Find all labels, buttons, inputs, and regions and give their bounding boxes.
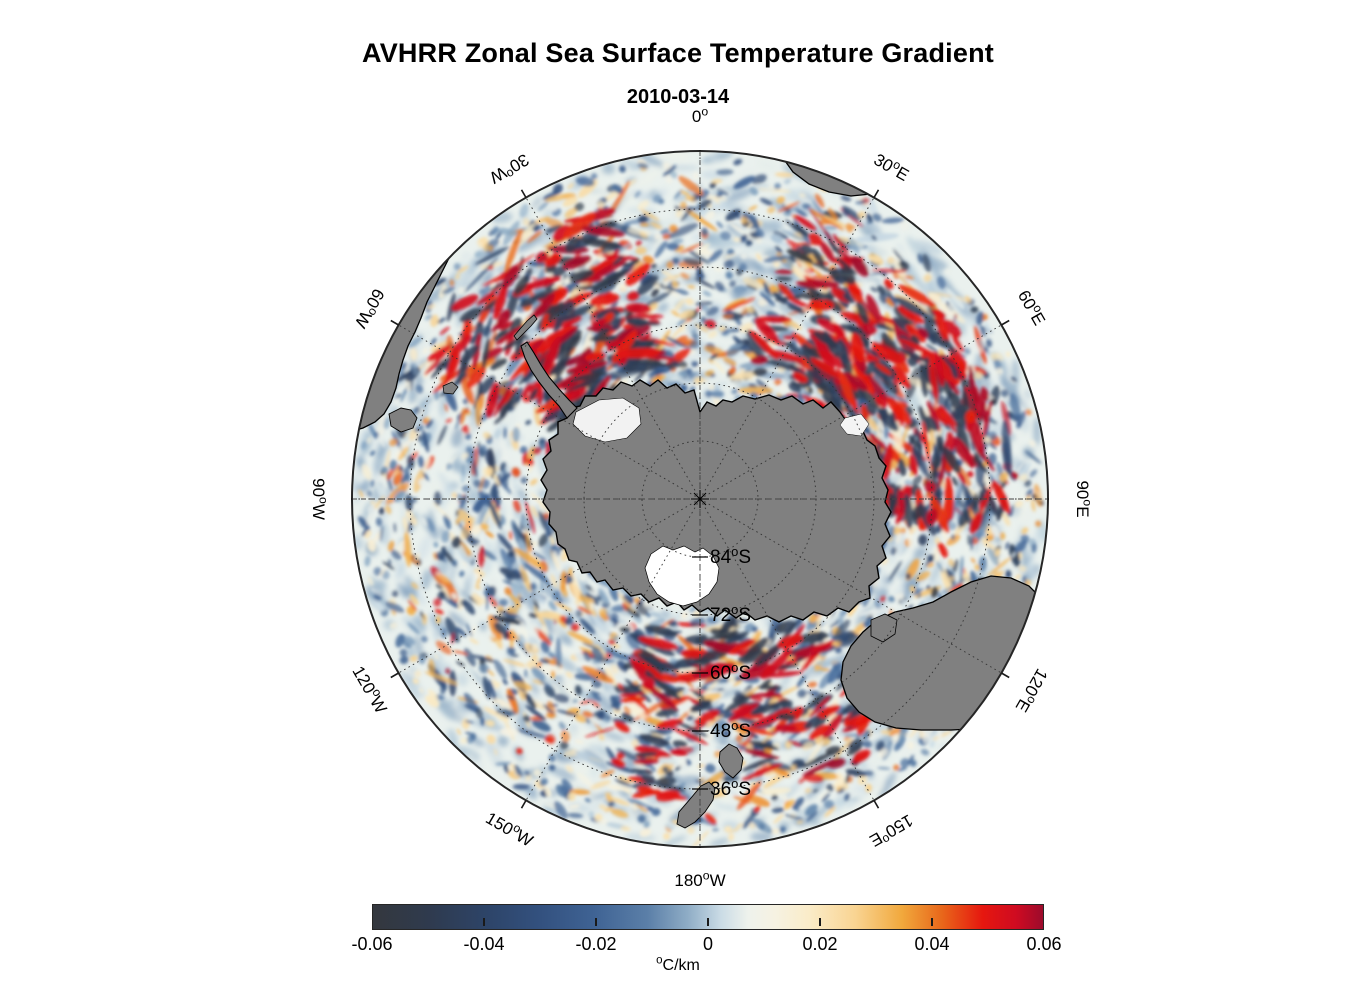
- longitude-label: 90oW: [308, 478, 328, 520]
- unit-text: C/km: [663, 957, 700, 974]
- latitude-label: 36oS: [710, 776, 751, 801]
- hemisphere-suffix: W: [710, 871, 726, 890]
- degree-symbol: o: [317, 497, 331, 504]
- colorbar-tick-label: -0.06: [312, 934, 432, 955]
- hemisphere-suffix: E: [1073, 506, 1092, 517]
- longitude-value: 180: [674, 871, 702, 890]
- colorbar-tick-label: 0: [648, 934, 768, 955]
- colorbar-tick: [595, 918, 597, 926]
- colorbar-tick-label: -0.04: [424, 934, 544, 955]
- page-subtitle: 2010-03-14: [0, 86, 1356, 109]
- colorbar-tick-label: 0.04: [872, 934, 992, 955]
- madagascar-land: [911, 150, 929, 168]
- colorbar-tick: [931, 918, 933, 926]
- longitude-value: 90: [1073, 480, 1092, 499]
- latitude-label: 72oS: [710, 602, 751, 627]
- latitude-label: 60oS: [710, 660, 751, 685]
- longitude-label: 0o: [692, 107, 708, 127]
- degree-symbol: o: [701, 104, 708, 118]
- colorbar-tick: [819, 918, 821, 926]
- longitude-label: 90oE: [1072, 480, 1092, 517]
- degree-symbol: o: [1081, 499, 1095, 506]
- colorbar[interactable]: [372, 904, 1044, 930]
- figure-canvas: AVHRR Zonal Sea Surface Temperature Grad…: [0, 0, 1356, 1000]
- hemisphere-suffix: W: [309, 504, 328, 520]
- colorbar-tick: [483, 918, 485, 926]
- longitude-label: 180oW: [674, 871, 725, 891]
- colorbar-tick-label: -0.02: [536, 934, 656, 955]
- polar-map-svg: 84oS72oS60oS48oS36oS: [351, 150, 1049, 848]
- latitude-label: 84oS: [710, 544, 751, 569]
- page-title: AVHRR Zonal Sea Surface Temperature Grad…: [0, 38, 1356, 69]
- polar-map: 84oS72oS60oS48oS36oS: [351, 150, 1049, 848]
- longitude-value: 90: [309, 478, 328, 497]
- colorbar-tick-label: 0.06: [984, 934, 1104, 955]
- colorbar-unit-label: oC/km: [0, 957, 1356, 975]
- latitude-label: 48oS: [710, 718, 751, 743]
- colorbar-tick: [707, 918, 709, 926]
- colorbar-tick-label: 0.02: [760, 934, 880, 955]
